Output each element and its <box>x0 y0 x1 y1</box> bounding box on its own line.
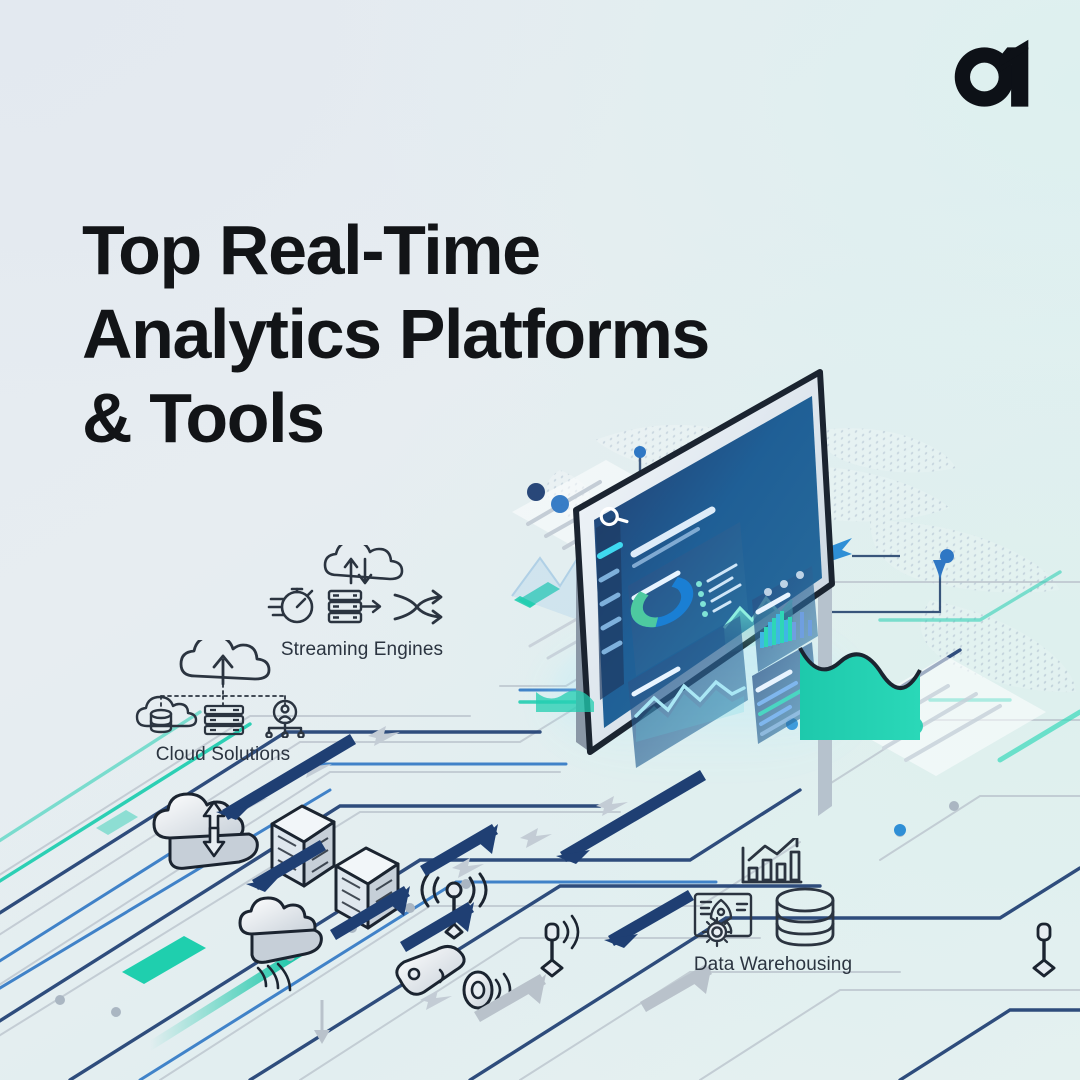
poster-canvas: Top Real-Time Analytics Platforms & Tool… <box>0 0 1080 1080</box>
bar-chart-widget <box>762 611 810 648</box>
shuffle-icon <box>395 591 441 623</box>
alpha-monogram-icon <box>955 40 1029 107</box>
rocket-gear-report-icon <box>695 894 751 946</box>
cloud-sync-icon <box>325 545 402 583</box>
title-line-3: & Tools <box>82 383 942 453</box>
cluster-label: Cloud Solutions <box>128 744 318 766</box>
stopwatch-icon <box>269 589 312 622</box>
cloud-database-icon <box>137 697 196 732</box>
antenna-tower-icon <box>422 874 486 938</box>
user-hierarchy-icon <box>266 701 303 738</box>
title-line-2: Analytics Platforms <box>82 299 942 369</box>
cluster-data-warehousing: Data Warehousing <box>668 838 878 976</box>
connector-tree <box>161 684 285 706</box>
floating-data-cards <box>512 460 688 658</box>
bar-chart-growth-icon <box>743 838 801 882</box>
server-rack-icon <box>205 706 243 734</box>
cloud-transfer-icon <box>154 794 257 868</box>
server-stack-arrow-icon <box>329 591 380 622</box>
search-icon <box>598 503 627 532</box>
title-line-1: Top Real-Time <box>82 215 942 285</box>
isometric-illustration <box>0 0 1080 1080</box>
data-list-widget <box>759 683 812 734</box>
line-chart-widget <box>636 682 744 742</box>
area-chart-widget <box>724 598 794 654</box>
floating-bar-chart <box>680 478 756 565</box>
brand-logo[interactable] <box>944 34 1040 120</box>
sensor-node-icon <box>397 946 464 994</box>
page-title: Top Real-Time Analytics Platforms & Tool… <box>82 215 942 467</box>
cloud-signal-icon <box>240 898 321 990</box>
wifi-router-icon <box>542 916 578 976</box>
dotted-world-map-background <box>0 0 1080 1080</box>
floating-report-cards <box>836 656 1046 776</box>
donut-chart-widget <box>617 562 708 643</box>
server-tower-icon <box>272 806 334 886</box>
database-cylinder-icon <box>777 889 833 945</box>
signal-emitter-icon <box>464 972 510 1008</box>
cloud-upload-icon <box>181 640 269 684</box>
teal-wave-accent <box>800 648 920 740</box>
server-tower-icon <box>336 848 398 928</box>
cluster-label: Data Warehousing <box>668 954 878 976</box>
wifi-router-icon <box>1034 924 1054 976</box>
cluster-cloud-solutions: Cloud Solutions <box>128 640 318 766</box>
flow-arrow <box>216 734 706 952</box>
